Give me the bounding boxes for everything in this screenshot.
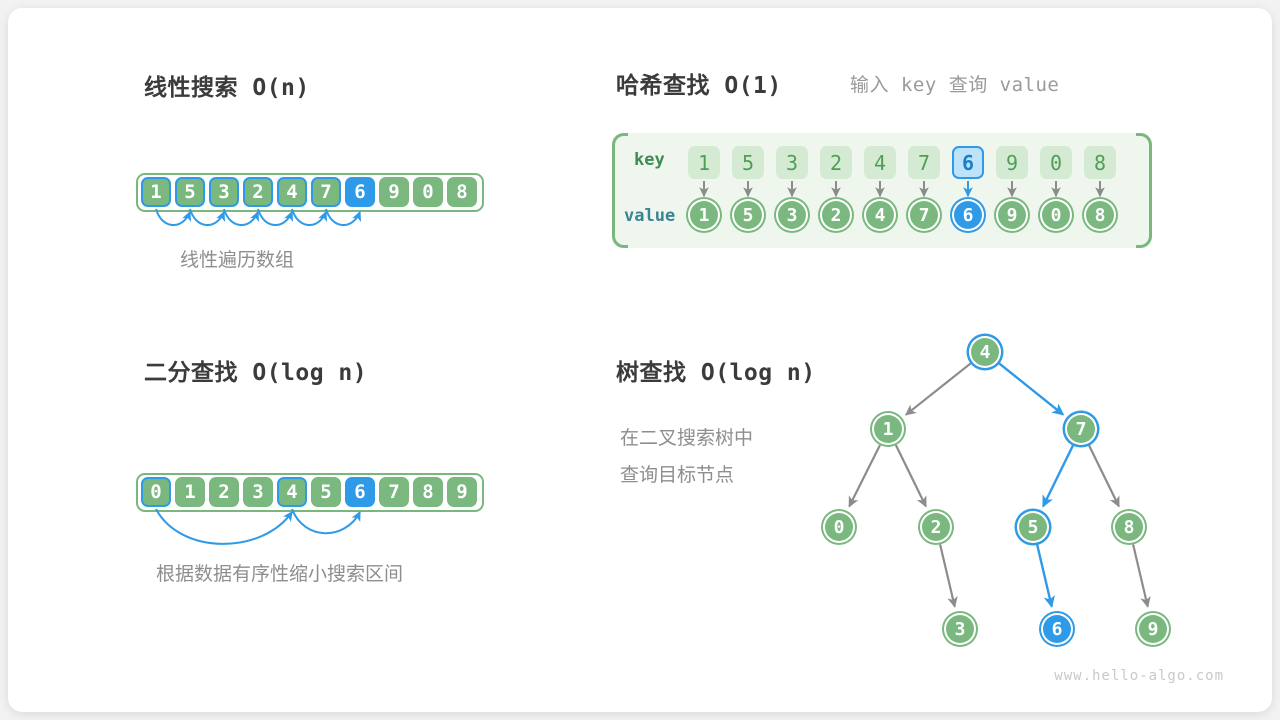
tree-edge (1089, 445, 1119, 506)
tree-node: 7 (1065, 413, 1097, 445)
tree-edge (849, 445, 880, 506)
tree-node: 1 (872, 413, 904, 445)
tree-edge (999, 363, 1063, 414)
diagram-card: 线性搜索 O(n) 1532476908 线性遍历数组 二分查找 O(log n… (8, 8, 1272, 712)
tree-edge (896, 445, 926, 506)
tree-node: 9 (1137, 613, 1169, 645)
tree-node: 8 (1113, 511, 1145, 543)
tree-edge (1037, 545, 1052, 607)
tree-edge (940, 545, 955, 607)
tree-node: 5 (1017, 511, 1049, 543)
tree-edges (8, 8, 1272, 712)
tree-node: 4 (969, 336, 1001, 368)
tree-edge (1043, 445, 1073, 506)
tree-node: 3 (944, 613, 976, 645)
tree-edge (1133, 545, 1148, 607)
tree-node: 6 (1041, 613, 1073, 645)
tree-node: 0 (823, 511, 855, 543)
tree-node: 2 (920, 511, 952, 543)
watermark: www.hello-algo.com (1054, 668, 1224, 684)
tree-edge (906, 363, 971, 415)
